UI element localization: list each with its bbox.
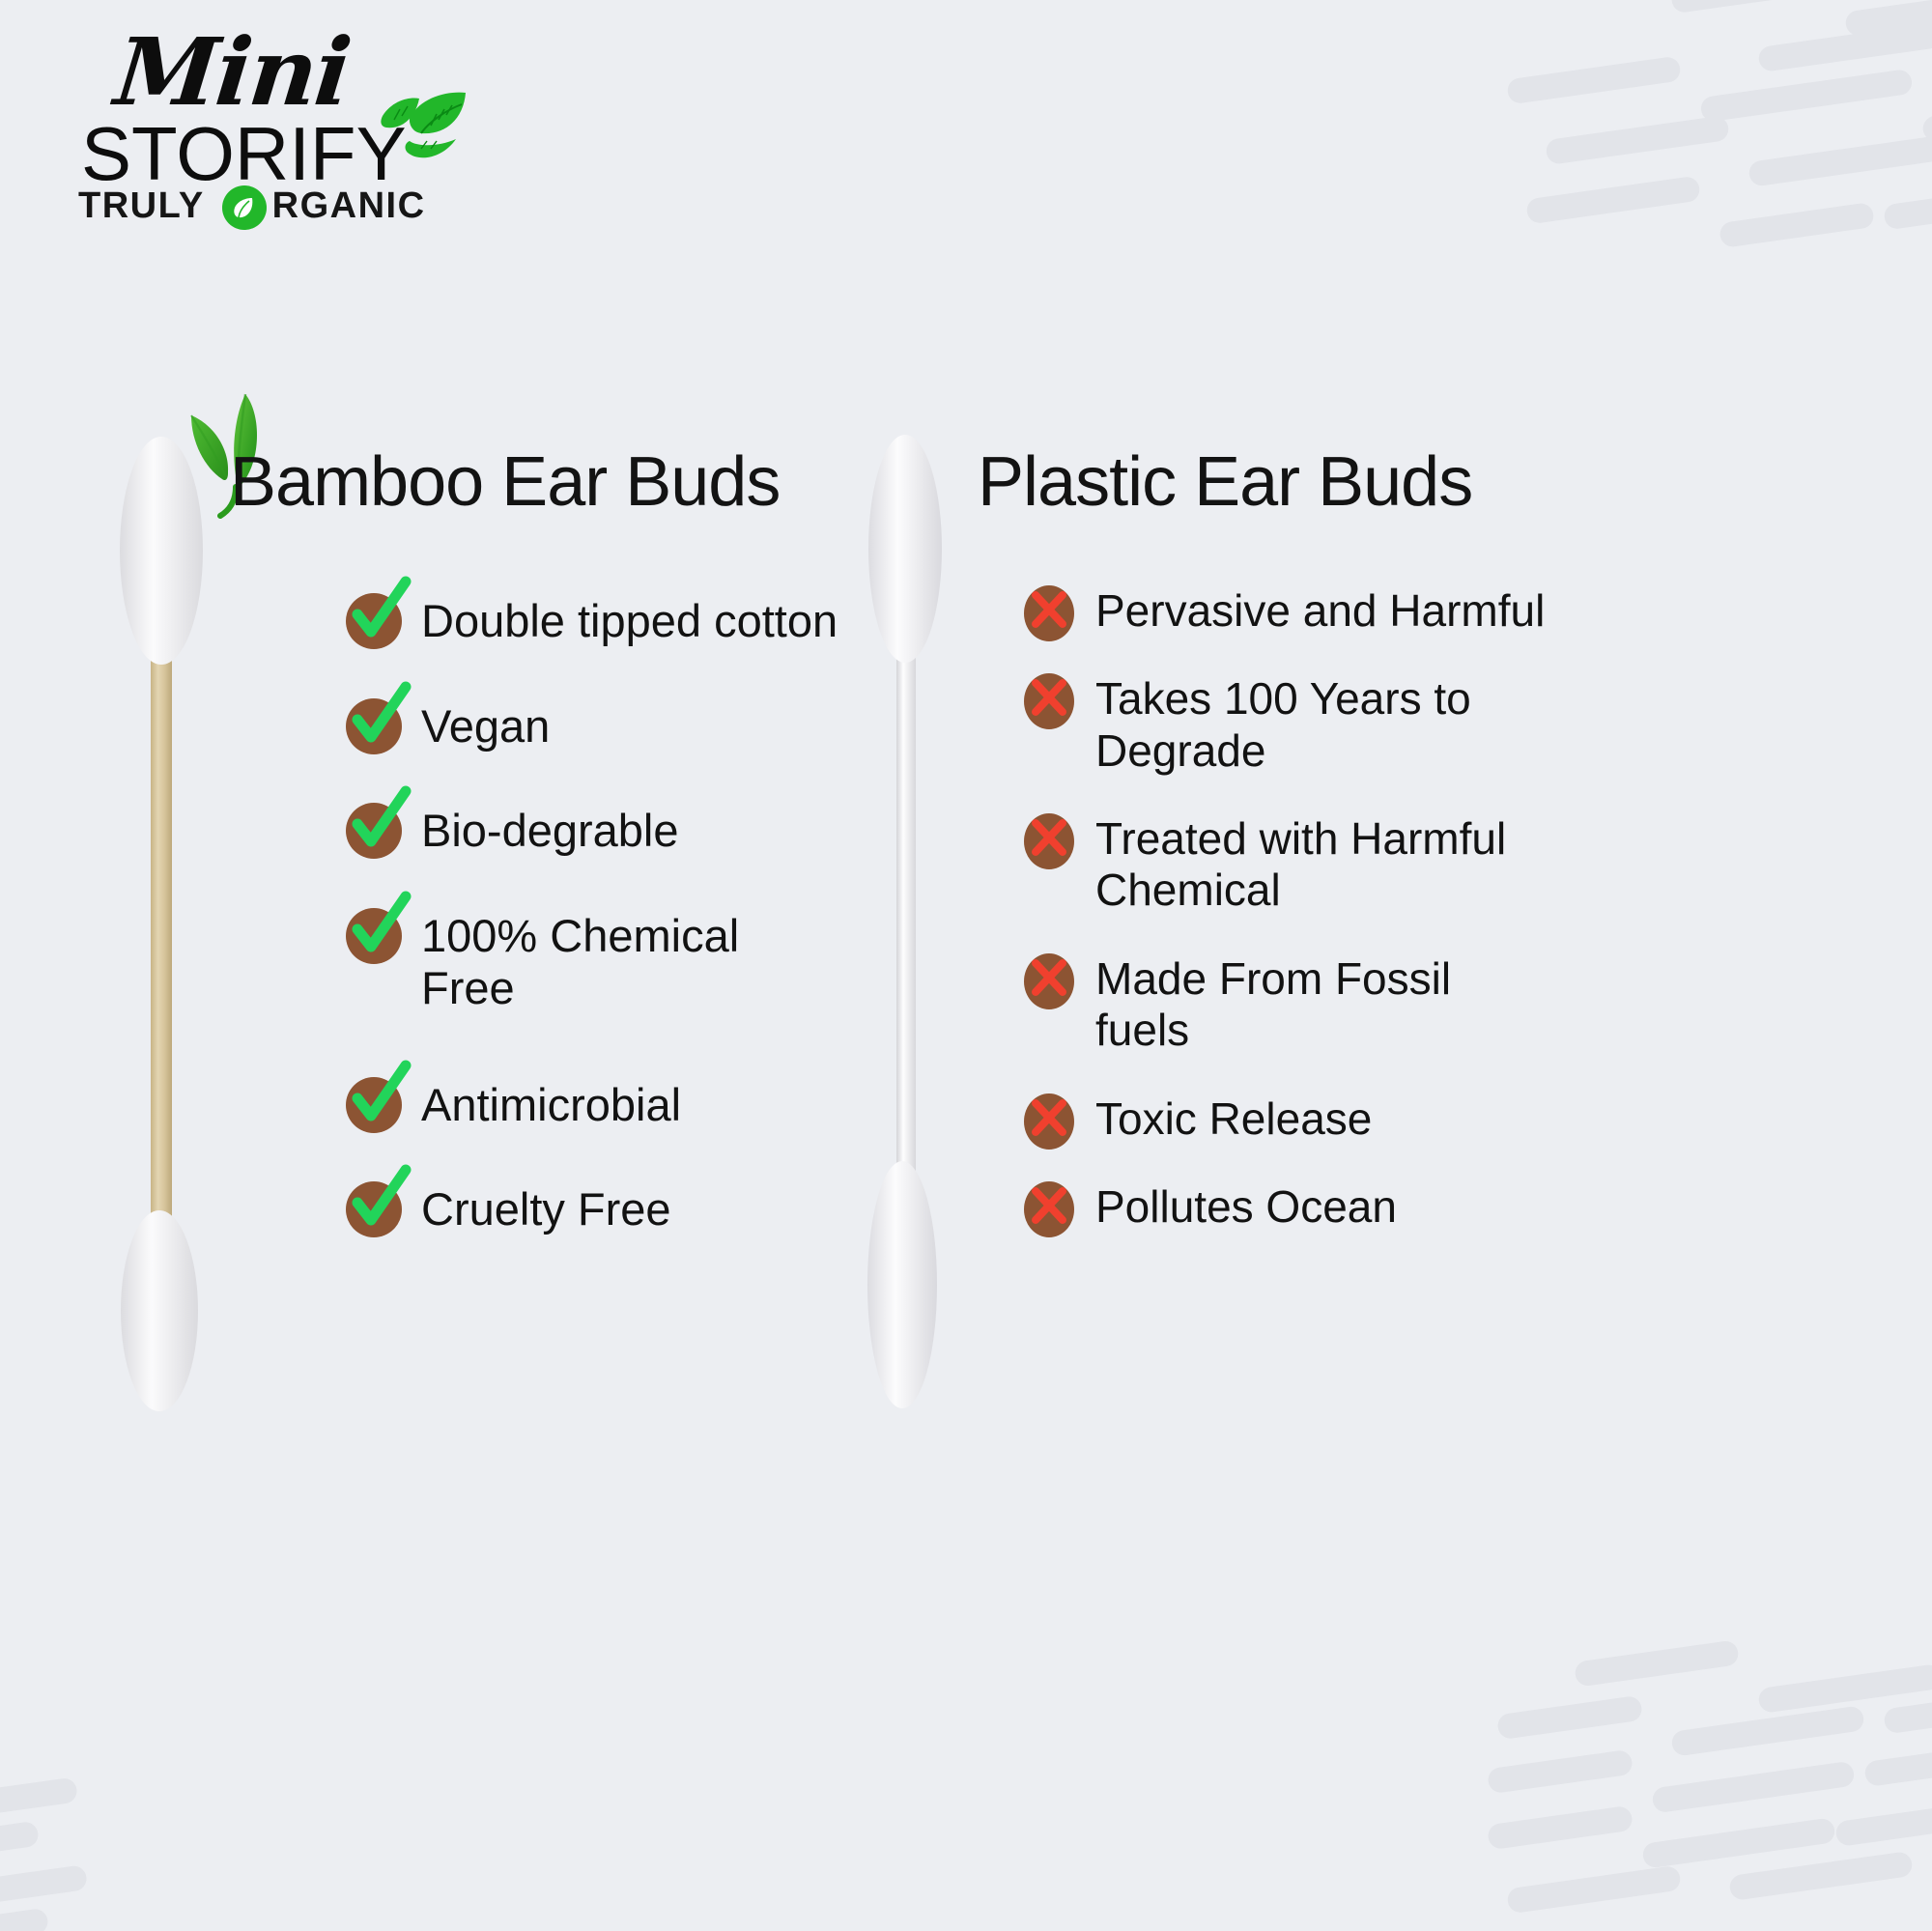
- heading-bamboo: Bamboo Ear Buds: [230, 442, 780, 522]
- check-icon: [346, 693, 406, 753]
- check-icon: [346, 587, 406, 647]
- brand-logo: Mini STORIFY TRULY: [75, 21, 481, 214]
- list-item: Toxic Release: [1024, 1086, 1893, 1145]
- cross-icon: [1024, 1086, 1078, 1140]
- decorative-dash-pattern-bottom-left: [0, 1757, 164, 1931]
- list-item: Antimicrobial: [346, 1071, 925, 1132]
- list-item-label: 100% Chemical Free: [421, 902, 788, 1015]
- leaf-icon: [354, 77, 469, 193]
- list-item-label: Pervasive and Harmful: [1095, 578, 1545, 637]
- leaf-badge-icon: [222, 185, 267, 230]
- bamboo-cotton-swab: [108, 437, 214, 1412]
- list-item: Treated with Harmful Chemical: [1024, 806, 1893, 917]
- list-item-label: Made From Fossil fuels: [1095, 946, 1540, 1057]
- decorative-dash-pattern-top-right: [1565, 0, 1932, 241]
- feature-list-bamboo: Double tipped cotton Vegan: [346, 587, 925, 1281]
- list-item-label: Treated with Harmful Chemical: [1095, 806, 1578, 917]
- list-item-label: Toxic Release: [1095, 1086, 1372, 1145]
- feature-list-plastic: Pervasive and Harmful Takes 100 Years to…: [1024, 578, 1893, 1262]
- cross-icon: [1024, 578, 1078, 632]
- list-item: Takes 100 Years to Degrade: [1024, 666, 1893, 777]
- cross-icon: [1024, 806, 1078, 860]
- check-icon: [346, 1071, 406, 1131]
- list-item: Cruelty Free: [346, 1176, 925, 1236]
- list-item-label: Antimicrobial: [421, 1071, 681, 1132]
- cross-icon: [1024, 1174, 1078, 1228]
- cross-icon: [1024, 666, 1078, 720]
- list-item-label: Takes 100 Years to Degrade: [1095, 666, 1549, 777]
- decorative-dash-pattern-bottom-right: [1555, 1641, 1932, 1931]
- list-item: Vegan: [346, 693, 925, 753]
- list-item-label: Vegan: [421, 693, 550, 753]
- logo-tagline: TRULY RGANIC: [78, 184, 426, 228]
- check-icon: [346, 797, 406, 857]
- logo-tagline-organic: RGANIC: [272, 185, 426, 227]
- check-icon: [346, 902, 406, 962]
- list-item-label: Pollutes Ocean: [1095, 1174, 1397, 1233]
- infographic-canvas: Mini STORIFY TRULY: [0, 0, 1932, 1931]
- list-item: Pollutes Ocean: [1024, 1174, 1893, 1233]
- logo-tagline-truly: TRULY: [78, 185, 205, 227]
- list-item: Made From Fossil fuels: [1024, 946, 1893, 1057]
- list-item-label: Bio-degrable: [421, 797, 679, 858]
- check-icon: [346, 1176, 406, 1235]
- list-item: Double tipped cotton: [346, 587, 925, 648]
- plastic-cotton-swab: [858, 435, 954, 1408]
- heading-plastic: Plastic Ear Buds: [978, 442, 1472, 522]
- cross-icon: [1024, 946, 1078, 1000]
- list-item: 100% Chemical Free: [346, 902, 925, 1015]
- list-item-label: Cruelty Free: [421, 1176, 671, 1236]
- list-item: Bio-degrable: [346, 797, 925, 858]
- list-item: Pervasive and Harmful: [1024, 578, 1893, 637]
- list-item-label: Double tipped cotton: [421, 587, 838, 648]
